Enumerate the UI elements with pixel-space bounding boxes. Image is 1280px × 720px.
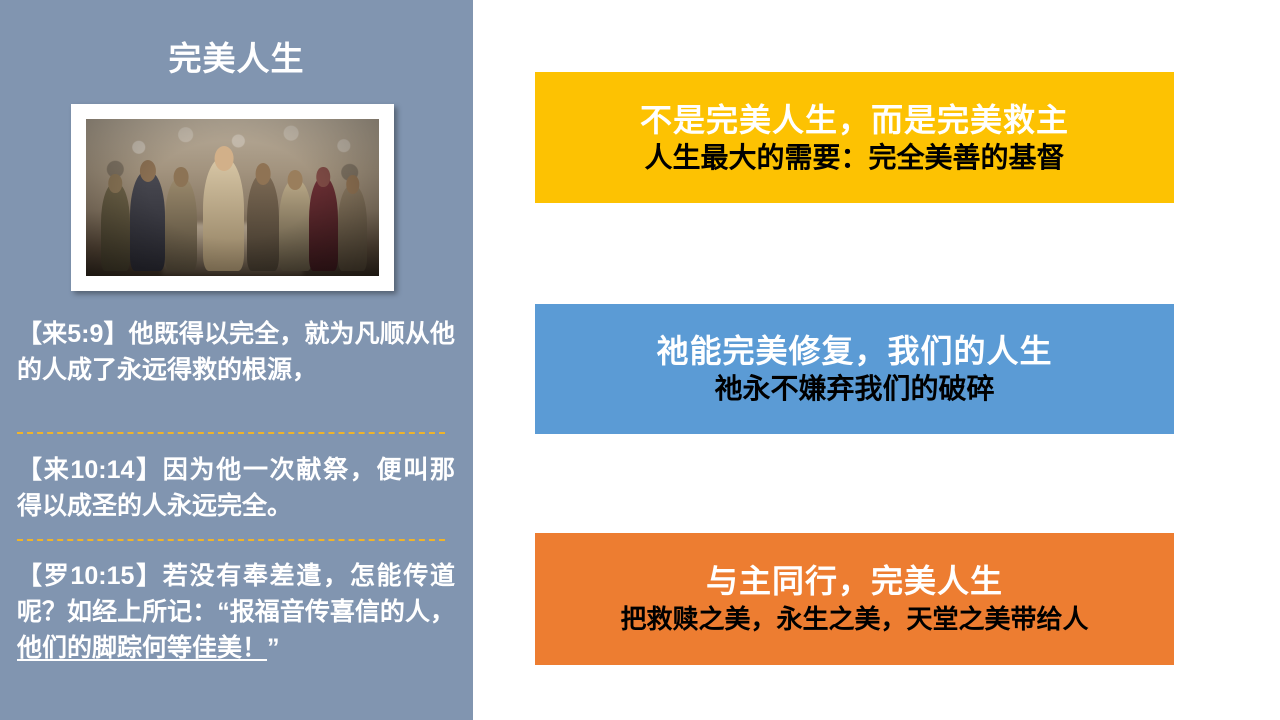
scripture-verse-rom-10-15: 【罗10:15】若没有奉差遣，怎能传道呢？如经上所记：“报福音传喜信的人，他们的…	[17, 558, 455, 666]
scripture-verse-heb-5-9: 【来5:9】他既得以完全，就为凡顺从他的人成了永远得救的根源，	[17, 316, 455, 388]
point-3-subheading: 把救赎之美，永生之美，天堂之美带给人	[620, 601, 1088, 637]
point-1-heading: 不是完美人生，而是完美救主	[640, 100, 1069, 140]
photo-frame	[71, 104, 394, 291]
sidebar-divider	[17, 432, 445, 434]
verse-text-plain: 【罗10:15】若没有奉差遣，怎能传道呢？如经上所记：“报福音传喜信的人，	[17, 562, 455, 626]
page-title: 完美人生	[0, 38, 473, 80]
point-box-1: 不是完美人生，而是完美救主 人生最大的需要：完全美善的基督	[535, 72, 1174, 203]
point-2-subheading: 祂永不嫌弃我们的破碎	[714, 371, 994, 407]
photo-vignette	[86, 119, 379, 276]
point-2-heading: 祂能完美修复，我们的人生	[656, 331, 1052, 371]
sidebar-panel: 完美人生	[0, 0, 473, 720]
point-1-subheading: 人生最大的需要：完全美善的基督	[644, 140, 1064, 176]
verse-text-underlined: 他们的脚踪何等佳美！	[17, 634, 267, 662]
scripture-verse-heb-10-14: 【来10:14】因为他一次献祭，便叫那得以成圣的人永远完全。	[17, 452, 455, 524]
presentation-slide: 完美人生	[0, 0, 1280, 720]
point-3-heading: 与主同行，完美人生	[706, 561, 1003, 601]
jesus-with-disciples-image	[86, 119, 379, 276]
point-box-3: 与主同行，完美人生 把救赎之美，永生之美，天堂之美带给人	[535, 533, 1174, 665]
sidebar-divider	[17, 539, 445, 541]
verse-text-closing-quote: ”	[267, 634, 280, 662]
point-box-2: 祂能完美修复，我们的人生 祂永不嫌弃我们的破碎	[535, 304, 1174, 434]
